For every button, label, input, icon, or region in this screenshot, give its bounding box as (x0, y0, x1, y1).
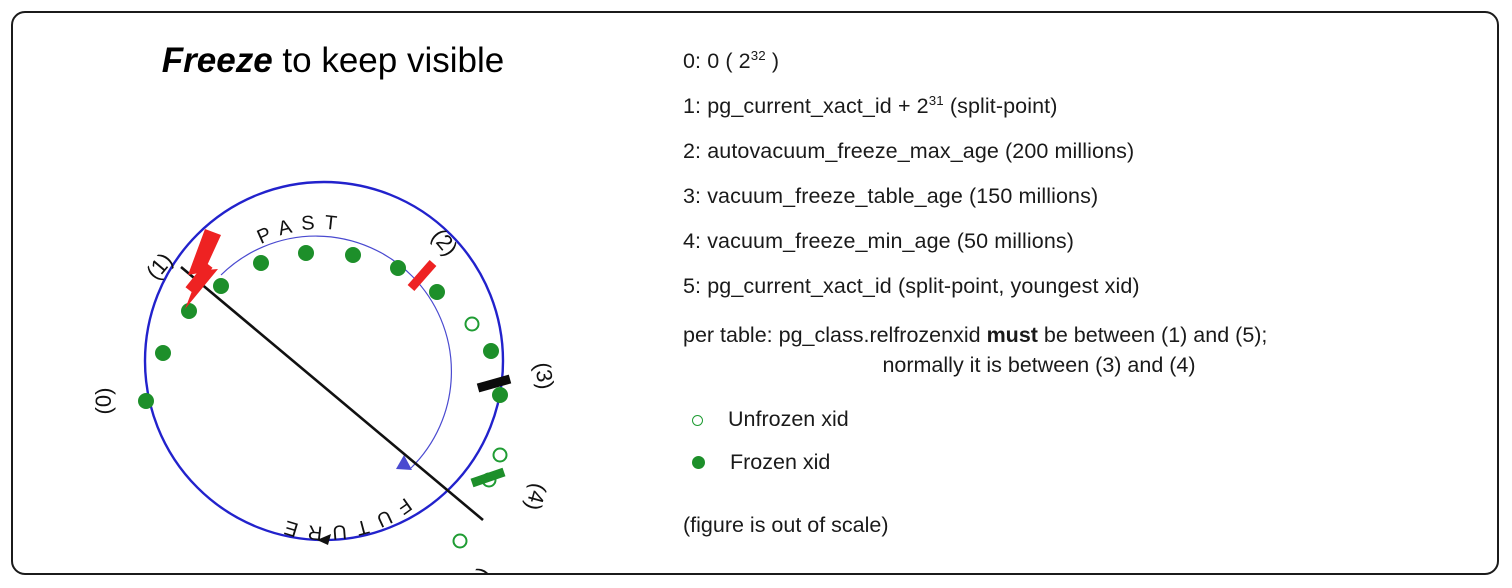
legend-item-unfrozen: Unfrozen xid (683, 407, 849, 432)
frozen-xid-dot (429, 284, 445, 300)
frozen-xid-dot (253, 255, 269, 271)
unfrozen-xid-dot (454, 535, 467, 548)
legend-label-frozen: Frozen xid (730, 450, 830, 474)
label-five: (5) (463, 564, 499, 573)
frozen-xid-dot (492, 387, 508, 403)
legend-item-frozen: Frozen xid (683, 450, 830, 475)
param-line-0: 0: 0 ( 232 ) (683, 49, 779, 74)
param-line-2: 2: autovacuum_freeze_max_age (200 millio… (683, 139, 1134, 164)
param-line-5: 5: pg_current_xact_id (split-point, youn… (683, 274, 1140, 299)
figure-panel: Freeze to keep visible PAST FUTURE (13, 13, 653, 573)
frozen-xid-dot (345, 247, 361, 263)
per-table-note: per table: pg_class.relfrozenxid must be… (683, 320, 1423, 380)
unfrozen-xid-dot (494, 449, 507, 462)
unfrozen-xid-marker-icon (692, 415, 703, 426)
title-rest: to keep visible (273, 41, 505, 80)
tick-mark-three (478, 379, 510, 388)
frozen-xid-marker-icon (692, 456, 705, 469)
frozen-xid-dot (181, 303, 197, 319)
title-emphasis: Freeze (162, 41, 273, 80)
label-four: (4) (521, 481, 552, 513)
arc-label-past: PAST (254, 212, 347, 249)
inner-sweep-arc (221, 236, 451, 468)
arc-label-future: FUTURE (273, 493, 415, 544)
frozen-xid-dot (298, 245, 314, 261)
per-table-line-1: per table: pg_class.relfrozenxid must be… (683, 320, 1423, 350)
param-line-4: 4: vacuum_freeze_min_age (50 millions) (683, 229, 1074, 254)
figure-frame: Freeze to keep visible PAST FUTURE (11, 11, 1499, 575)
per-table-line-2: normally it is between (3) and (4) (683, 350, 1423, 380)
legend-label-unfrozen: Unfrozen xid (728, 407, 849, 431)
xid-wraparound-diagram: PAST FUTURE (13, 83, 653, 573)
label-two: (2) (427, 224, 463, 261)
label-one: (1) (141, 248, 177, 285)
page-title: Freeze to keep visible (13, 41, 653, 81)
tick-mark-four (472, 472, 504, 483)
frozen-xid-dot (213, 278, 229, 294)
param-line-1: 1: pg_current_xact_id + 231 (split-point… (683, 94, 1057, 119)
split-point-line (181, 267, 483, 520)
frozen-xid-dot (390, 260, 406, 276)
unfrozen-xid-dot (466, 318, 479, 331)
label-zero: (0) (91, 388, 116, 415)
scale-footnote: (figure is out of scale) (683, 513, 889, 538)
tick-mark-two (411, 263, 433, 288)
frozen-xid-dot (138, 393, 154, 409)
frozen-xid-dot (483, 343, 499, 359)
legend-text-panel: 0: 0 ( 232 ) 1: pg_current_xact_id + 231… (673, 13, 1493, 573)
param-line-3: 3: vacuum_freeze_table_age (150 millions… (683, 184, 1098, 209)
frozen-xid-dot (155, 345, 171, 361)
boundary-ticks (189, 263, 510, 483)
label-three: (3) (530, 360, 559, 391)
